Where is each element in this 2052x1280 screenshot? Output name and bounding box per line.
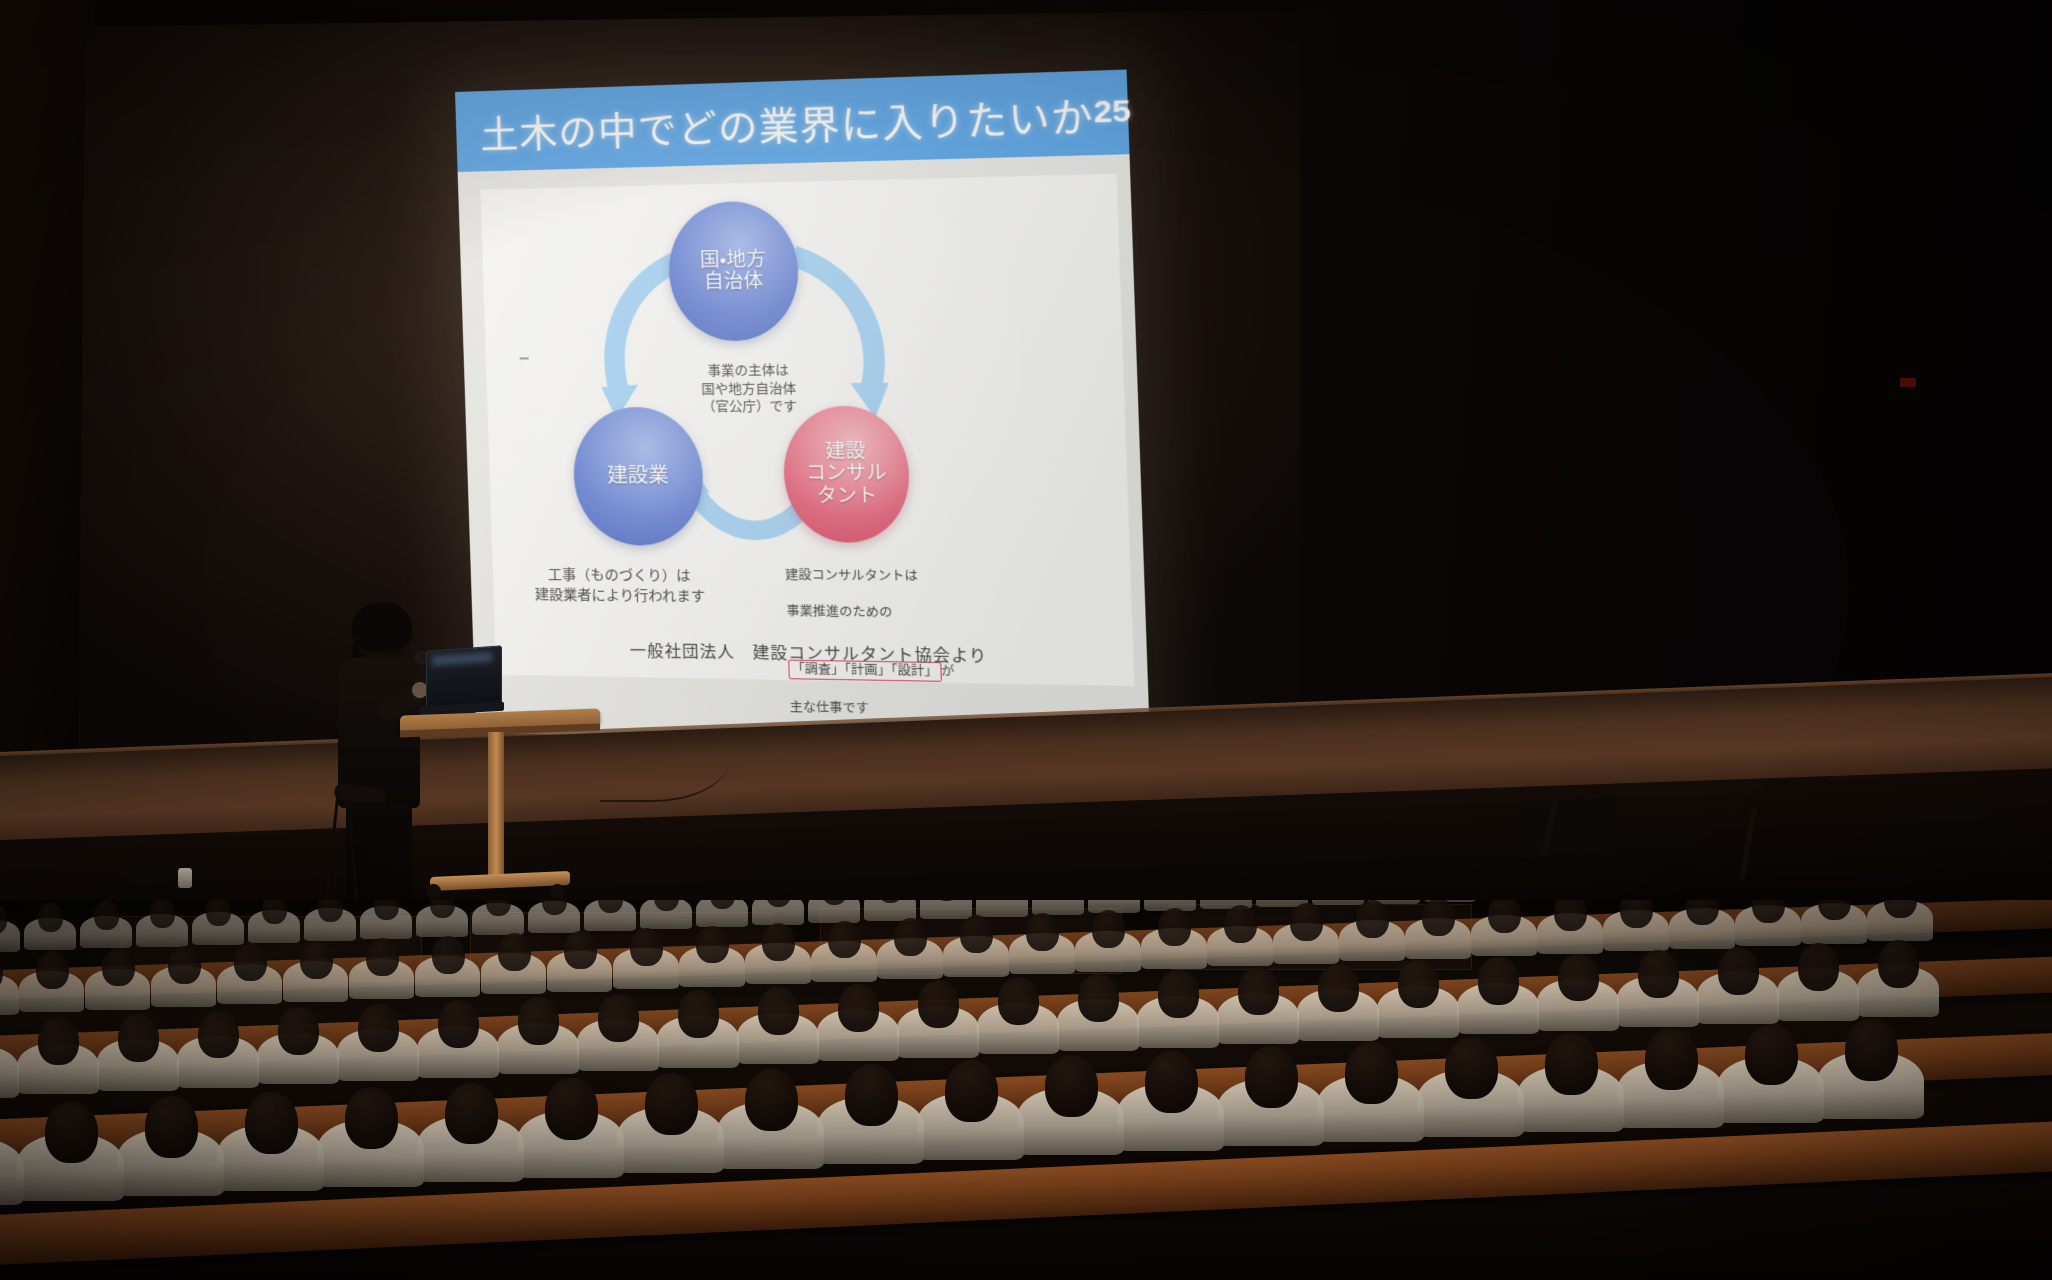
stage-floor-monitor <box>1520 796 1616 858</box>
audience-member-head <box>94 900 120 930</box>
audience-member-head <box>1798 943 1839 991</box>
audience-member-head <box>1554 900 1587 931</box>
audience-member-head <box>118 1014 159 1062</box>
audience-member-head <box>894 918 927 956</box>
slide-credit-text: 一般社団法人 建設コンサルタント協会より <box>495 635 1134 669</box>
audience-member-head <box>1026 913 1059 951</box>
audience-member-head <box>1645 1028 1698 1090</box>
audience-member-head <box>1092 910 1125 948</box>
audience-member-shoulders <box>976 900 1028 917</box>
audience-member-head <box>1545 1033 1598 1095</box>
presenter-hair <box>352 602 412 652</box>
audience-member-head <box>828 921 861 959</box>
audience-member-head <box>1488 900 1521 933</box>
consultant-note-line1: 建設コンサルタントは <box>785 567 999 587</box>
audience-member-head <box>498 933 531 971</box>
lecture-hall-scene: 土木の中でどの業界に入りたいか 25 <box>0 0 2052 1280</box>
audience-member-head <box>1145 1051 1198 1113</box>
water-bottle <box>178 868 192 888</box>
audience-member-head <box>630 928 663 966</box>
audience-member-head <box>38 1017 79 1065</box>
audience-member-head <box>345 1087 398 1149</box>
audience-member-head <box>102 948 135 986</box>
audience-member-head <box>1318 964 1359 1012</box>
slide-canvas: 土木の中でどの業界に入りたいか 25 <box>455 70 1150 749</box>
audience-member-head <box>234 943 267 981</box>
audience-member-head <box>366 938 399 976</box>
audience-member-head <box>678 990 719 1038</box>
audience-member-head <box>1845 1019 1898 1081</box>
audience-member-head <box>838 984 879 1032</box>
audience-member-head <box>545 1078 598 1140</box>
audience-member-head <box>1356 900 1389 938</box>
audience-member-head <box>1245 1046 1298 1108</box>
bubble-consultant-label: 建設 コンサル タント <box>805 441 888 507</box>
audience-member-head <box>1345 1042 1398 1104</box>
consultant-note-line2: 事業推進のための <box>786 603 1000 624</box>
podium-caster-wheel <box>426 884 441 899</box>
audience-member-head <box>1422 900 1455 936</box>
audience-member-head <box>1224 905 1257 943</box>
audience-member-head <box>1445 1037 1498 1099</box>
slide-page-number: 25 <box>1093 94 1131 131</box>
audience-member-head <box>598 994 639 1042</box>
audience-member-head <box>198 1011 239 1059</box>
audience-member-head <box>1238 967 1279 1015</box>
audience-member-head <box>1290 903 1323 941</box>
audience-member-head <box>845 1064 898 1126</box>
audience-member-head <box>960 915 993 953</box>
audience-member-head <box>1398 960 1439 1008</box>
audience-member-shoulders <box>920 900 972 919</box>
audience-member-head <box>1045 1055 1098 1117</box>
audience-member-head <box>1558 954 1599 1002</box>
slide-title: 土木の中でどの業界に入りたいか <box>479 84 1094 159</box>
audience-member-head <box>45 1101 98 1163</box>
audience-member-shoulders <box>1312 900 1364 905</box>
audience-member-head <box>36 951 69 989</box>
audience-member-head <box>564 931 597 969</box>
audience-member-head <box>38 902 64 932</box>
audience-member-head <box>645 1073 698 1135</box>
audience-member-head <box>696 926 729 964</box>
slide-body: 国・地方 自治体 建設業 建設 コンサル タント 事業の主体は 国や地方自治体 … <box>458 154 1151 748</box>
audience-member-head <box>358 1004 399 1052</box>
audience-member-head <box>300 941 333 979</box>
audience-member-head <box>445 1083 498 1145</box>
audience-member-head <box>168 946 201 984</box>
construction-note-text: 工事（ものづくり）は 建設業者により行われます <box>512 565 727 607</box>
audience-member-head <box>150 900 176 928</box>
podium-post <box>488 732 504 882</box>
audience-member-head <box>1158 970 1199 1018</box>
audience-member-head <box>278 1007 319 1055</box>
audience-member-head <box>206 900 232 926</box>
audience-member-head <box>432 936 465 974</box>
podium-base <box>430 871 570 891</box>
audience-member-head <box>245 1092 298 1154</box>
audience-member-head <box>1078 974 1119 1022</box>
audience-member-head <box>145 1096 198 1158</box>
exit-indicator-light <box>1900 378 1916 387</box>
podium-caster-wheel <box>550 884 565 899</box>
center-note-text: 事業の主体は 国や地方自治体 （官公庁）です <box>660 360 839 415</box>
audience-member-head <box>1638 950 1679 998</box>
audience-member-head <box>518 997 559 1045</box>
bubble-consultant: 建設 コンサル タント <box>782 406 912 543</box>
audience-member-head <box>745 1069 798 1131</box>
audience-member-head <box>1620 900 1653 928</box>
audience-member-head <box>762 923 795 961</box>
bubble-government-label: 国・地方 自治体 <box>700 249 767 294</box>
presenter-laptop <box>418 648 504 718</box>
bubble-government: 国・地方 自治体 <box>667 200 801 342</box>
small-dash-mark <box>520 357 529 359</box>
bubble-construction: 建設業 <box>572 407 706 546</box>
diagram-card: 国・地方 自治体 建設業 建設 コンサル タント 事業の主体は 国や地方自治体 … <box>480 174 1135 687</box>
projected-slide: 土木の中でどの業界に入りたいか 25 <box>455 70 1150 749</box>
audience-member-head <box>1745 1024 1798 1086</box>
audience-member-head <box>438 1000 479 1048</box>
audience-member-head <box>1478 957 1519 1005</box>
audience-member-head <box>1718 947 1759 995</box>
audience-member-head <box>758 987 799 1035</box>
audience-member-head <box>945 1060 998 1122</box>
audience-member-head <box>1878 940 1919 988</box>
audience-seating <box>0 900 2052 1280</box>
bubble-construction-label: 建設業 <box>607 465 669 488</box>
audience-member-head <box>918 980 959 1028</box>
audience-member-head <box>998 977 1039 1025</box>
wooden-podium <box>400 712 600 897</box>
audience-member-head <box>1158 908 1191 946</box>
